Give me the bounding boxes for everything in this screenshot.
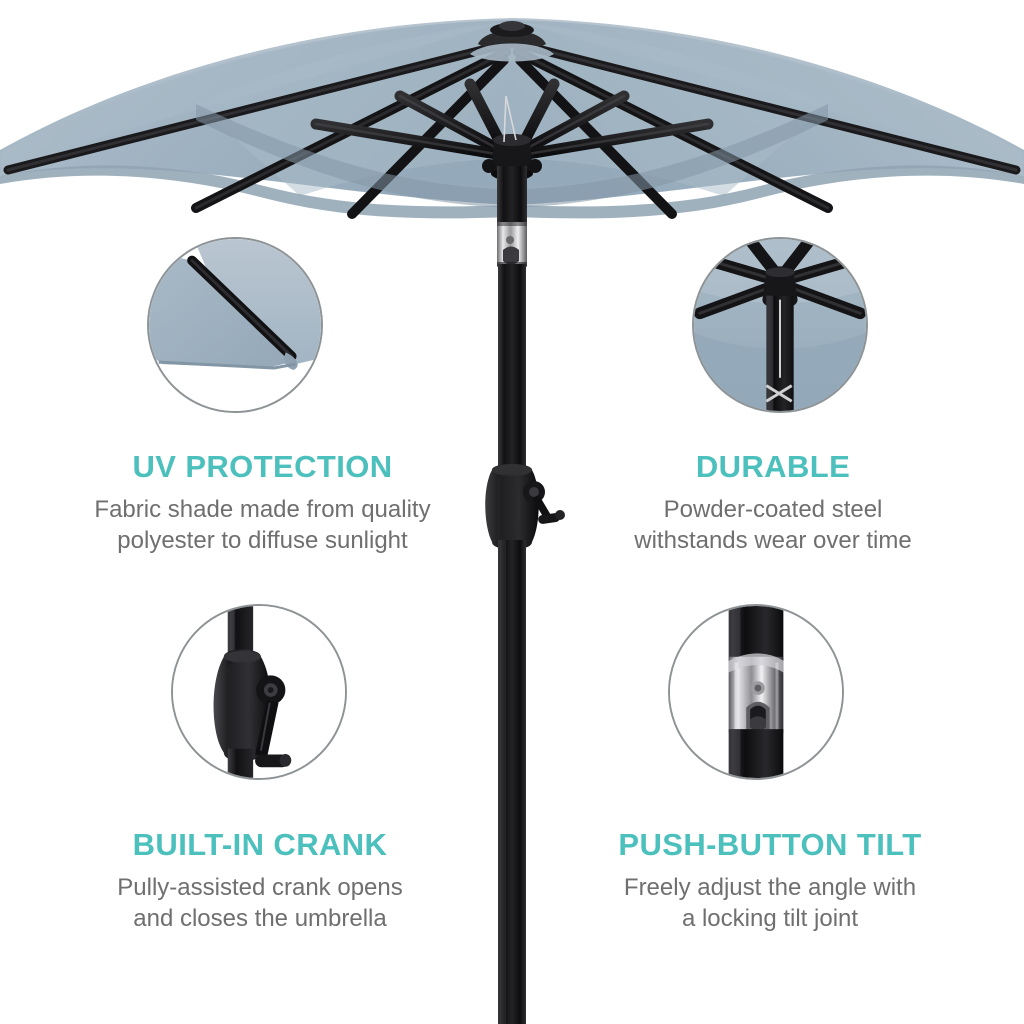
feature-body-line-1: Powder-coated steel: [664, 496, 883, 523]
feature-block-built-in-crank: BUILT-IN CRANK Pully-assisted crank open…: [10, 828, 510, 935]
feature-body-line-2: and closes the umbrella: [133, 905, 386, 932]
feature-heading-built-in-crank: BUILT-IN CRANK: [10, 828, 510, 863]
feature-heading-durable: DURABLE: [528, 450, 1018, 485]
feature-block-durable: DURABLE Powder-coated steel withstands w…: [528, 450, 1018, 557]
feature-body-uv-protection: Fabric shade made from quality polyester…: [10, 494, 515, 557]
callout-tilt-joint: [668, 604, 844, 780]
callout-fabric-canopy-edge: [147, 237, 323, 413]
feature-heading-uv-protection: UV PROTECTION: [10, 450, 515, 485]
feature-body-push-button-tilt: Freely adjust the angle with a locking t…: [522, 872, 1018, 935]
feature-body-line-2: a locking tilt joint: [682, 905, 858, 932]
product-feature-infographic: UV PROTECTION Fabric shade made from qua…: [0, 0, 1024, 1024]
feature-body-line-2: polyester to diffuse sunlight: [117, 527, 407, 554]
callout-underside-hub: [692, 237, 868, 413]
feature-heading-push-button-tilt: PUSH-BUTTON TILT: [522, 828, 1018, 863]
feature-body-built-in-crank: Pully-assisted crank opens and closes th…: [10, 872, 510, 935]
feature-body-line-2: withstands wear over time: [634, 527, 911, 554]
feature-body-line-1: Freely adjust the angle with: [624, 874, 916, 901]
tilt-joint-icon: [497, 222, 527, 267]
feature-block-uv-protection: UV PROTECTION Fabric shade made from qua…: [10, 450, 515, 557]
feature-body-line-1: Pully-assisted crank opens: [117, 874, 402, 901]
feature-body-line-1: Fabric shade made from quality: [94, 496, 430, 523]
callout-crank-housing: [171, 604, 347, 780]
feature-body-durable: Powder-coated steel withstands wear over…: [528, 494, 1018, 557]
feature-block-push-button-tilt: PUSH-BUTTON TILT Freely adjust the angle…: [522, 828, 1018, 935]
